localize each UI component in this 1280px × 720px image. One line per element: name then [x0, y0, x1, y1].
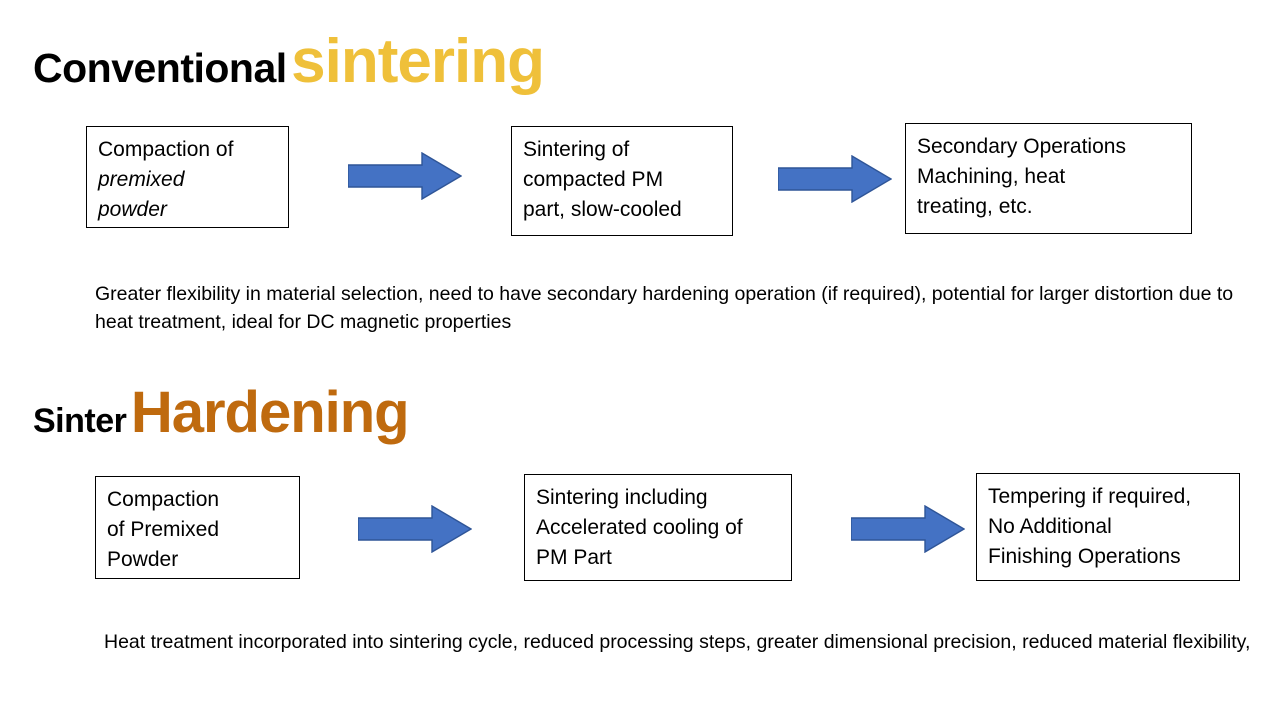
process-box-tempering-if-required: Tempering if required, No Additional Fin…	[976, 473, 1240, 581]
box-line: powder	[98, 195, 277, 225]
caption-conventional-sintering: Greater flexibility in material selectio…	[95, 281, 1255, 336]
box-line: Compaction	[107, 485, 288, 515]
slide-canvas: Conventional sintering Compaction of pre…	[0, 0, 1280, 720]
box-line: premixed	[98, 165, 277, 195]
box-line: No Additional	[988, 512, 1228, 542]
heading-accent-text: Hardening	[131, 380, 409, 445]
box-line: Machining, heat	[917, 162, 1180, 192]
box-line: Powder	[107, 545, 288, 575]
process-box-compaction-premixed-powder-2: Compaction of Premixed Powder	[95, 476, 300, 579]
box-line: Sintering of	[523, 135, 721, 165]
process-box-sintering-accelerated-cooling: Sintering including Accelerated cooling …	[524, 474, 792, 581]
process-box-sintering-compacted-pm-part: Sintering of compacted PM part, slow-coo…	[511, 126, 733, 236]
caption-line-1: Heat treatment incorporated into sinteri…	[104, 631, 1017, 653]
process-box-compaction-premixed-powder: Compaction of premixed powder	[86, 126, 289, 228]
box-line: compacted PM	[523, 165, 721, 195]
caption-sinter-hardening: Heat treatment incorporated into sinteri…	[104, 629, 1264, 657]
box-line: Finishing Operations	[988, 542, 1228, 572]
box-line: part, slow-cooled	[523, 195, 721, 225]
box-line: of Premixed	[107, 515, 288, 545]
box-line: Compaction of	[98, 135, 277, 165]
heading-conventional-sintering: Conventional sintering	[33, 31, 544, 93]
heading-plain-text: Conventional	[33, 45, 287, 91]
right-arrow-icon	[348, 152, 462, 200]
right-arrow-icon	[778, 155, 892, 203]
box-line: Accelerated cooling of	[536, 513, 780, 543]
heading-accent-text: sintering	[291, 27, 544, 96]
right-arrow-icon	[358, 505, 472, 553]
box-line: PM Part	[536, 543, 780, 573]
box-line: Secondary Operations	[917, 132, 1180, 162]
caption-line-1: Greater flexibility in material selectio…	[95, 283, 1089, 305]
box-line: treating, etc.	[917, 192, 1180, 222]
box-line: Sintering including	[536, 483, 780, 513]
right-arrow-icon	[851, 505, 965, 553]
heading-plain-text: Sinter	[33, 402, 126, 440]
caption-line-2: reduced material flexibility,	[1022, 631, 1250, 653]
heading-sinter-hardening: Sinter Hardening	[33, 384, 409, 442]
process-box-secondary-operations: Secondary Operations Machining, heat tre…	[905, 123, 1192, 234]
box-line: Tempering if required,	[988, 482, 1228, 512]
